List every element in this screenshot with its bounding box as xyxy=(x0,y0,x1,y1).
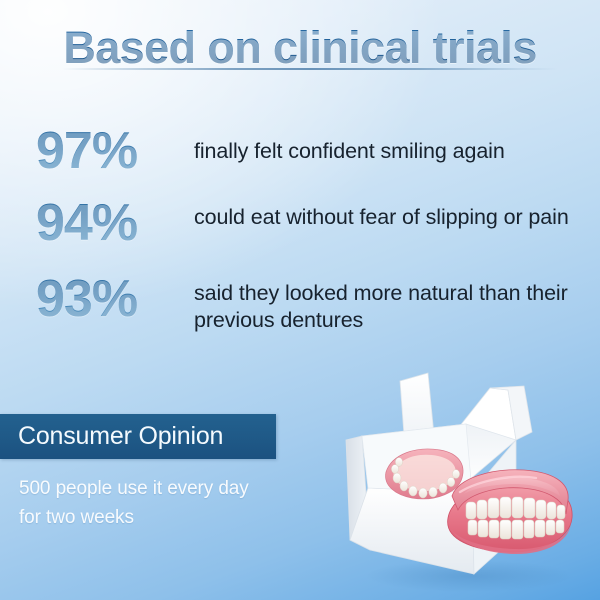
stats-list: 97% finally felt confident smiling again… xyxy=(36,124,576,352)
full-denture-set xyxy=(448,470,572,554)
title-block: Based on clinical trials xyxy=(0,24,600,71)
page-title: Based on clinical trials xyxy=(0,24,600,71)
poster-canvas: Based on clinical trials 97% finally fel… xyxy=(0,0,600,600)
stat-description: said they looked more natural than their… xyxy=(194,272,576,334)
usage-caption-line-2: for two weeks xyxy=(19,503,309,532)
title-divider xyxy=(62,68,558,70)
usage-caption: 500 people use it every day for two week… xyxy=(19,474,309,533)
consumer-opinion-banner: Consumer Opinion xyxy=(0,414,276,459)
stat-description: could eat without fear of slipping or pa… xyxy=(194,196,576,231)
stat-description: finally felt confident smiling again xyxy=(194,124,576,165)
stat-row: 94% could eat without fear of slipping o… xyxy=(36,196,576,250)
stat-percent: 93% xyxy=(36,272,194,326)
stat-percent: 94% xyxy=(36,196,194,250)
denture-box-illustration xyxy=(340,368,598,596)
usage-caption-line-1: 500 people use it every day xyxy=(19,474,309,503)
stat-row: 93% said they looked more natural than t… xyxy=(36,272,576,334)
consumer-opinion-label: Consumer Opinion xyxy=(0,422,223,451)
stat-row: 97% finally felt confident smiling again xyxy=(36,124,576,178)
product-photo xyxy=(340,368,598,596)
stat-percent: 97% xyxy=(36,124,194,178)
